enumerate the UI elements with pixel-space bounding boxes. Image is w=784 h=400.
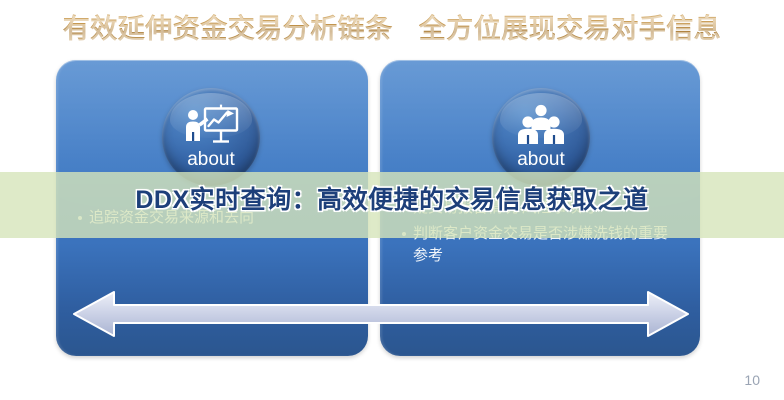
badge-right-label: about — [517, 150, 565, 169]
slide-canvas: 有效延伸资金交易分析链条 全方位展现交易对手信息 — [0, 0, 784, 400]
badge-left-label: about — [187, 150, 235, 169]
presenter-chart-icon — [182, 103, 240, 147]
slide-heading: 有效延伸资金交易分析链条 全方位展现交易对手信息 — [0, 4, 784, 48]
page-number: 10 — [744, 372, 760, 388]
heading-part-2: 全方位展现交易对手信息 — [419, 7, 722, 46]
heading-part-1: 有效延伸资金交易分析链条 — [63, 7, 393, 46]
overlay-title: DDX实时查询：高效便捷的交易信息获取之道 — [0, 180, 784, 216]
people-group-icon — [512, 103, 570, 147]
